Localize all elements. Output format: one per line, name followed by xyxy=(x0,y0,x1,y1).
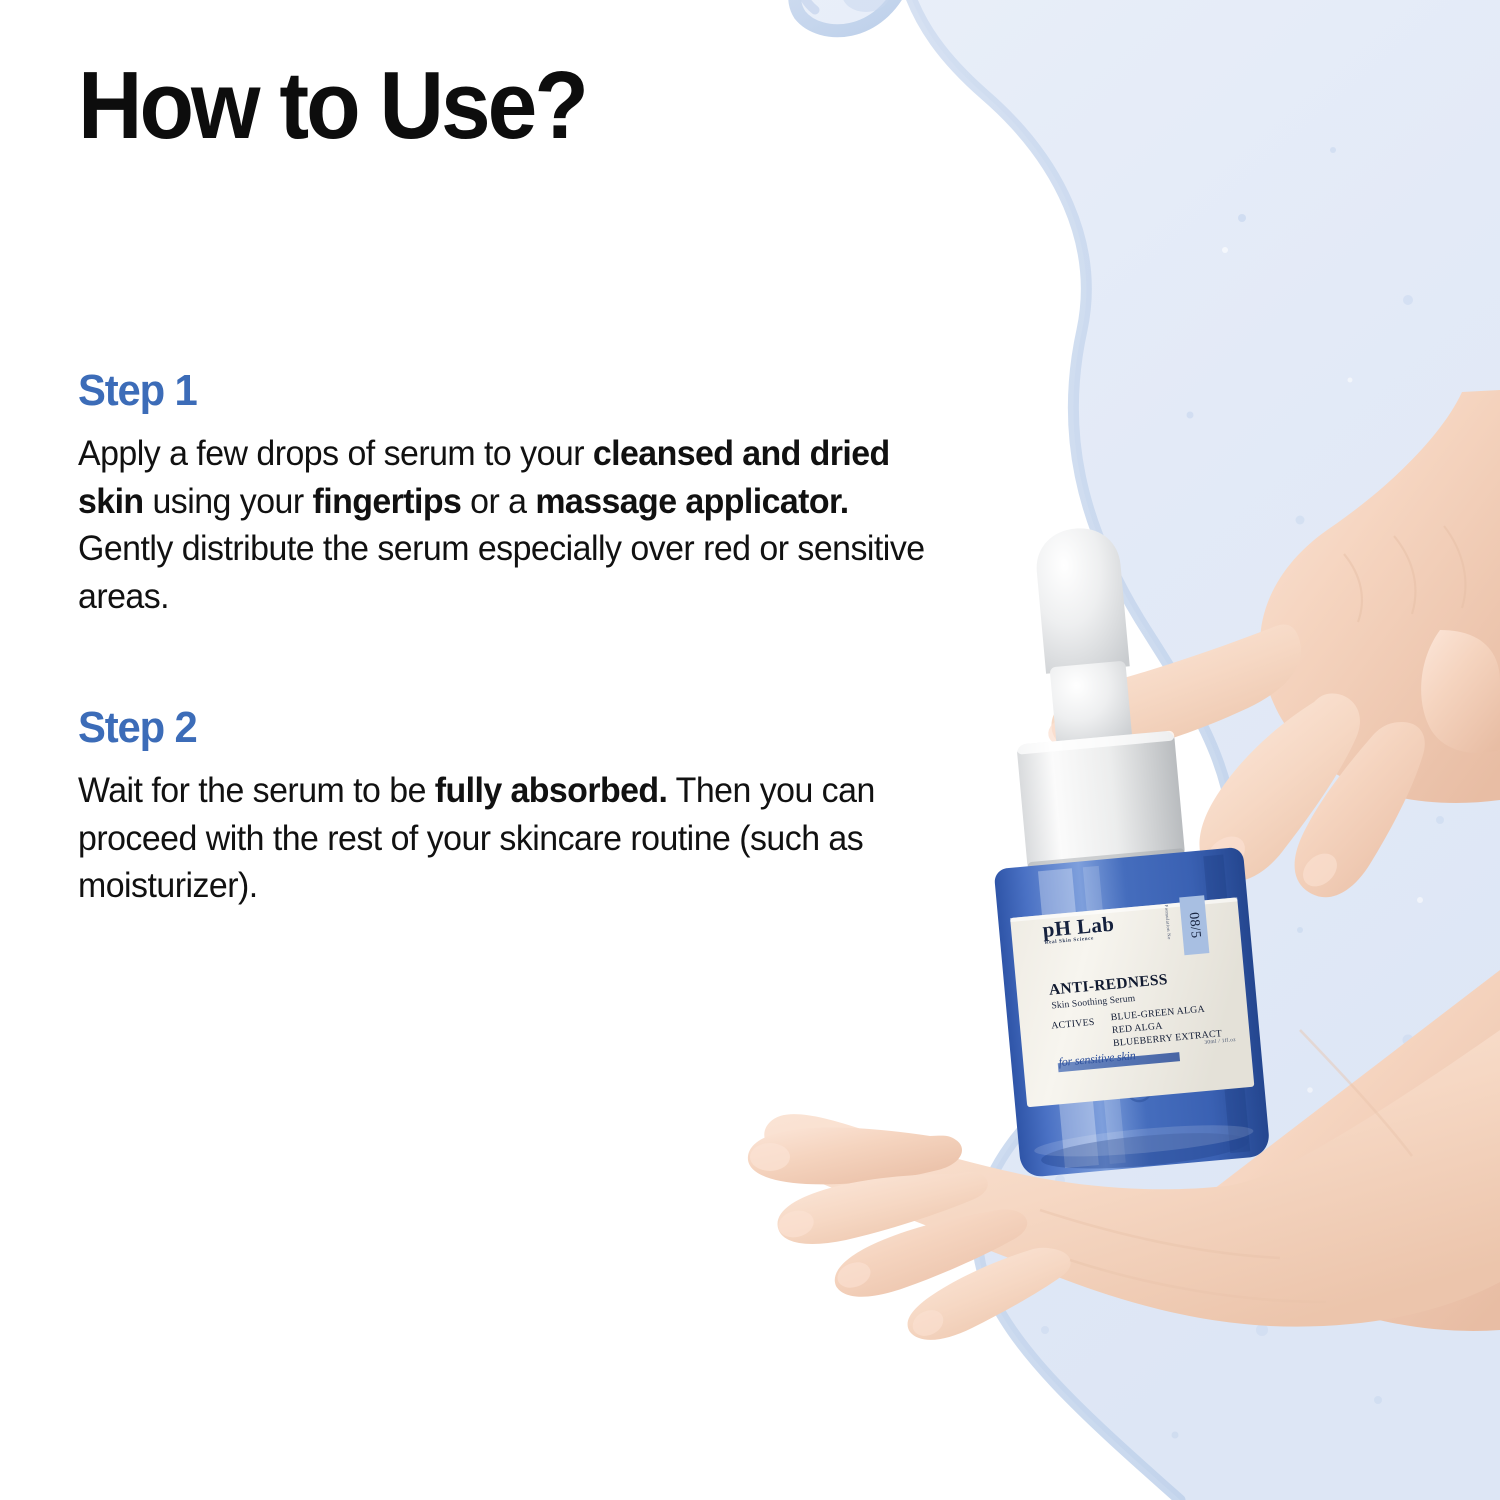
page-title: How to Use? xyxy=(78,58,586,154)
how-to-use-infographic: How to Use? Step 1 Apply a few drops of … xyxy=(0,0,1500,1500)
product-scene xyxy=(740,330,1500,1390)
dropper-bulb[interactable] xyxy=(1033,525,1130,674)
hands-and-bottle-svg xyxy=(740,330,1500,1390)
bottle-label xyxy=(1010,897,1254,1107)
